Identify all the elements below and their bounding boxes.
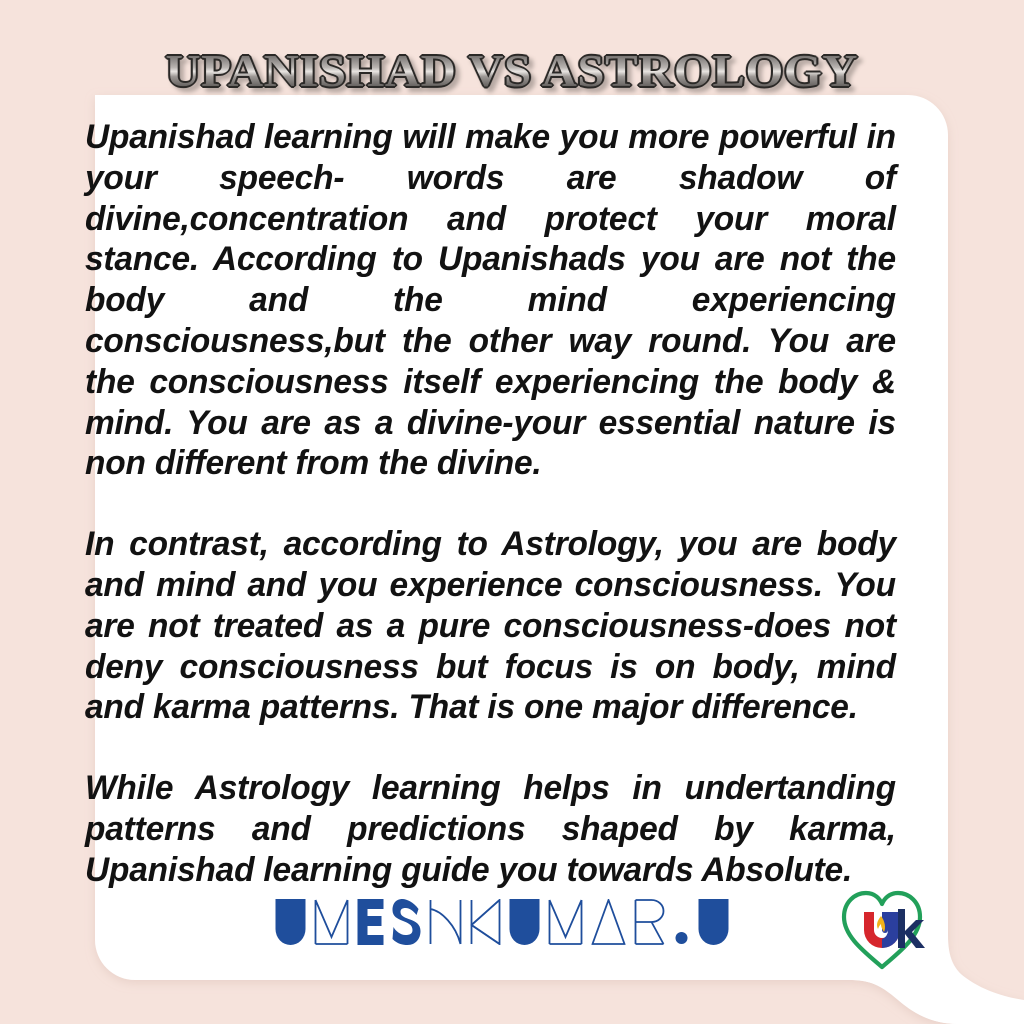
poster-canvas: UPANISHAD VS ASTROLOGY Upanishad learnin…	[0, 0, 1024, 1024]
brand-wordmark[interactable]: UMESHKUMAR . U	[275, 893, 728, 945]
wordmark-letter-u-3	[698, 899, 728, 945]
wordmark-letter-m-1	[314, 899, 348, 945]
page-title: UPANISHAD VS ASTROLOGY	[166, 45, 859, 97]
wordmark-letter-h	[429, 899, 461, 945]
paragraph-1: Upanishad learning will make you more po…	[85, 117, 896, 484]
wordmark-letter-e	[357, 899, 383, 945]
wordmark-letter-u-2	[509, 899, 539, 945]
heart-uk-logo[interactable]	[836, 887, 928, 973]
heart-icon	[836, 887, 928, 973]
wordmark-dot	[673, 899, 689, 945]
paragraph-3-text: While Astrology learning helps in undert…	[85, 769, 896, 889]
paragraph-2: In contrast, according to Astrology, you…	[85, 524, 896, 728]
wordmark-letter-s	[392, 899, 420, 945]
footer-row: UMESHKUMAR . U	[55, 887, 948, 979]
wordmark-letter-r	[634, 899, 664, 945]
body-copy: Upanishad learning will make you more po…	[85, 117, 921, 891]
paragraph-2-text: In contrast, according to Astrology, you…	[85, 525, 896, 726]
wordmark-letter-a	[591, 899, 625, 945]
paragraph-1-text: Upanishad learning will make you more po…	[85, 118, 896, 482]
paragraph-3: While Astrology learning helps in undert…	[85, 768, 896, 890]
wordmark-letter-k-1	[470, 899, 500, 945]
wordmark-letter-u-1	[275, 899, 305, 945]
title-bar: UPANISHAD VS ASTROLOGY	[0, 14, 1024, 127]
wordmark-letter-m-2	[548, 899, 582, 945]
content-card: Upanishad learning will make you more po…	[55, 95, 948, 1007]
